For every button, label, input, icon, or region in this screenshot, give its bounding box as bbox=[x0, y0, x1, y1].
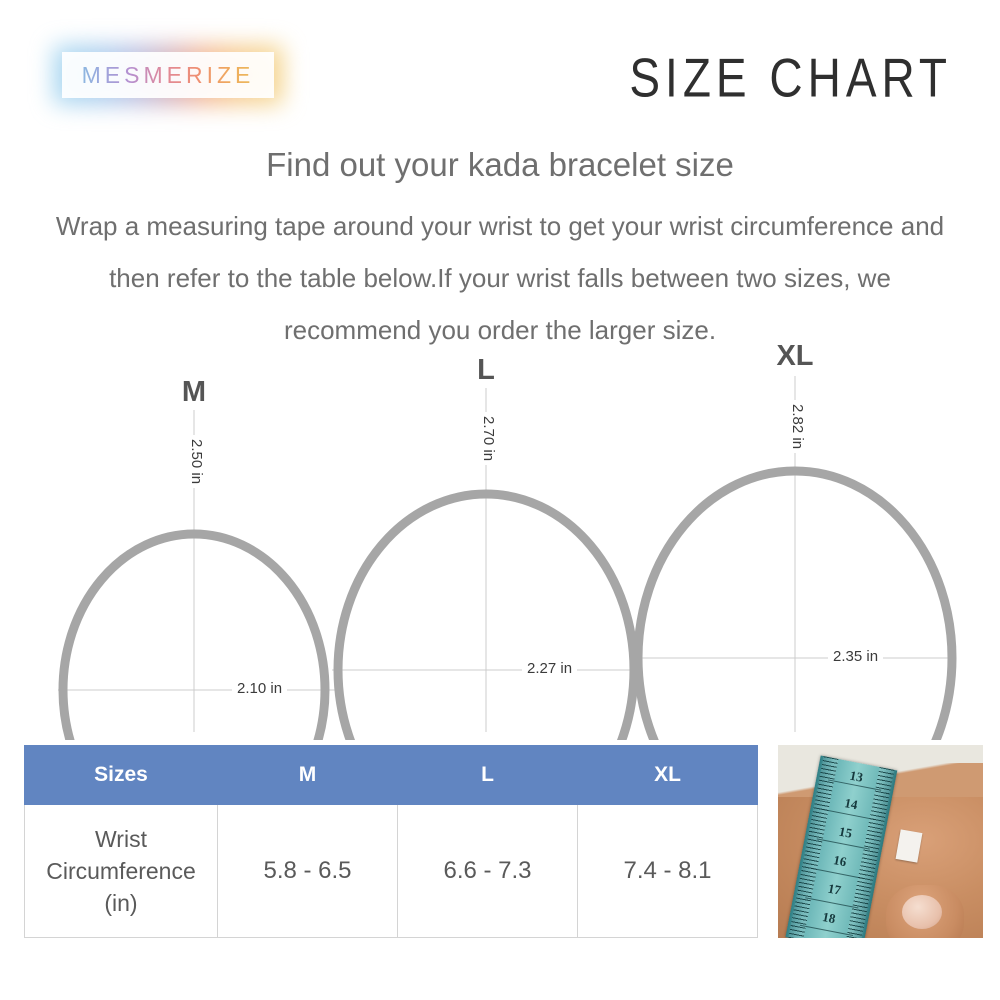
row-label-wrist-circumference: Wrist Circumference (in) bbox=[25, 805, 218, 938]
page-title: SIZE CHART bbox=[629, 46, 952, 110]
brand-wordmark: MESMERIZE bbox=[62, 52, 274, 98]
intro-body: Wrap a measuring tape around your wrist … bbox=[50, 200, 950, 356]
row-label-line-1: Wrist bbox=[95, 826, 147, 852]
dimension-height-xl: 2.82 in bbox=[789, 400, 806, 453]
row-label-line-2: Circumference bbox=[46, 858, 196, 884]
diagram-svg-xl bbox=[0, 340, 1000, 740]
header-l: L bbox=[398, 746, 578, 805]
header-xl: XL bbox=[578, 746, 758, 805]
photo-thumbnail-nail bbox=[902, 895, 942, 929]
size-label-xl: XL bbox=[760, 340, 830, 373]
size-table: Sizes M L XL Wrist Circumference (in) 5.… bbox=[24, 745, 758, 938]
table-header-row: Sizes M L XL bbox=[25, 746, 758, 805]
table-row: Wrist Circumference (in) 5.8 - 6.5 6.6 -… bbox=[25, 805, 758, 938]
cell-value-l: 6.6 - 7.3 bbox=[398, 805, 578, 938]
wrist-measurement-photo: 13 14 15 16 17 18 bbox=[778, 745, 983, 938]
cell-value-m: 5.8 - 6.5 bbox=[218, 805, 398, 938]
dimension-width-xl: 2.35 in bbox=[828, 648, 883, 665]
header-sizes: Sizes bbox=[25, 746, 218, 805]
row-label-line-3: (in) bbox=[104, 890, 137, 916]
intro-heading: Find out your kada bracelet size bbox=[0, 146, 1000, 184]
cell-value-xl: 7.4 - 8.1 bbox=[578, 805, 758, 938]
ellipse-diagrams: M 2.50 in 2.10 in L 2.70 in 2.27 in XL 2… bbox=[0, 340, 1000, 740]
table-head: Sizes M L XL bbox=[25, 746, 758, 805]
header-m: M bbox=[218, 746, 398, 805]
size-chart-page: MESMERIZE SIZE CHART Find out your kada … bbox=[0, 0, 1000, 1000]
brand-logo: MESMERIZE bbox=[52, 44, 284, 106]
table-body: Wrist Circumference (in) 5.8 - 6.5 6.6 -… bbox=[25, 805, 758, 938]
